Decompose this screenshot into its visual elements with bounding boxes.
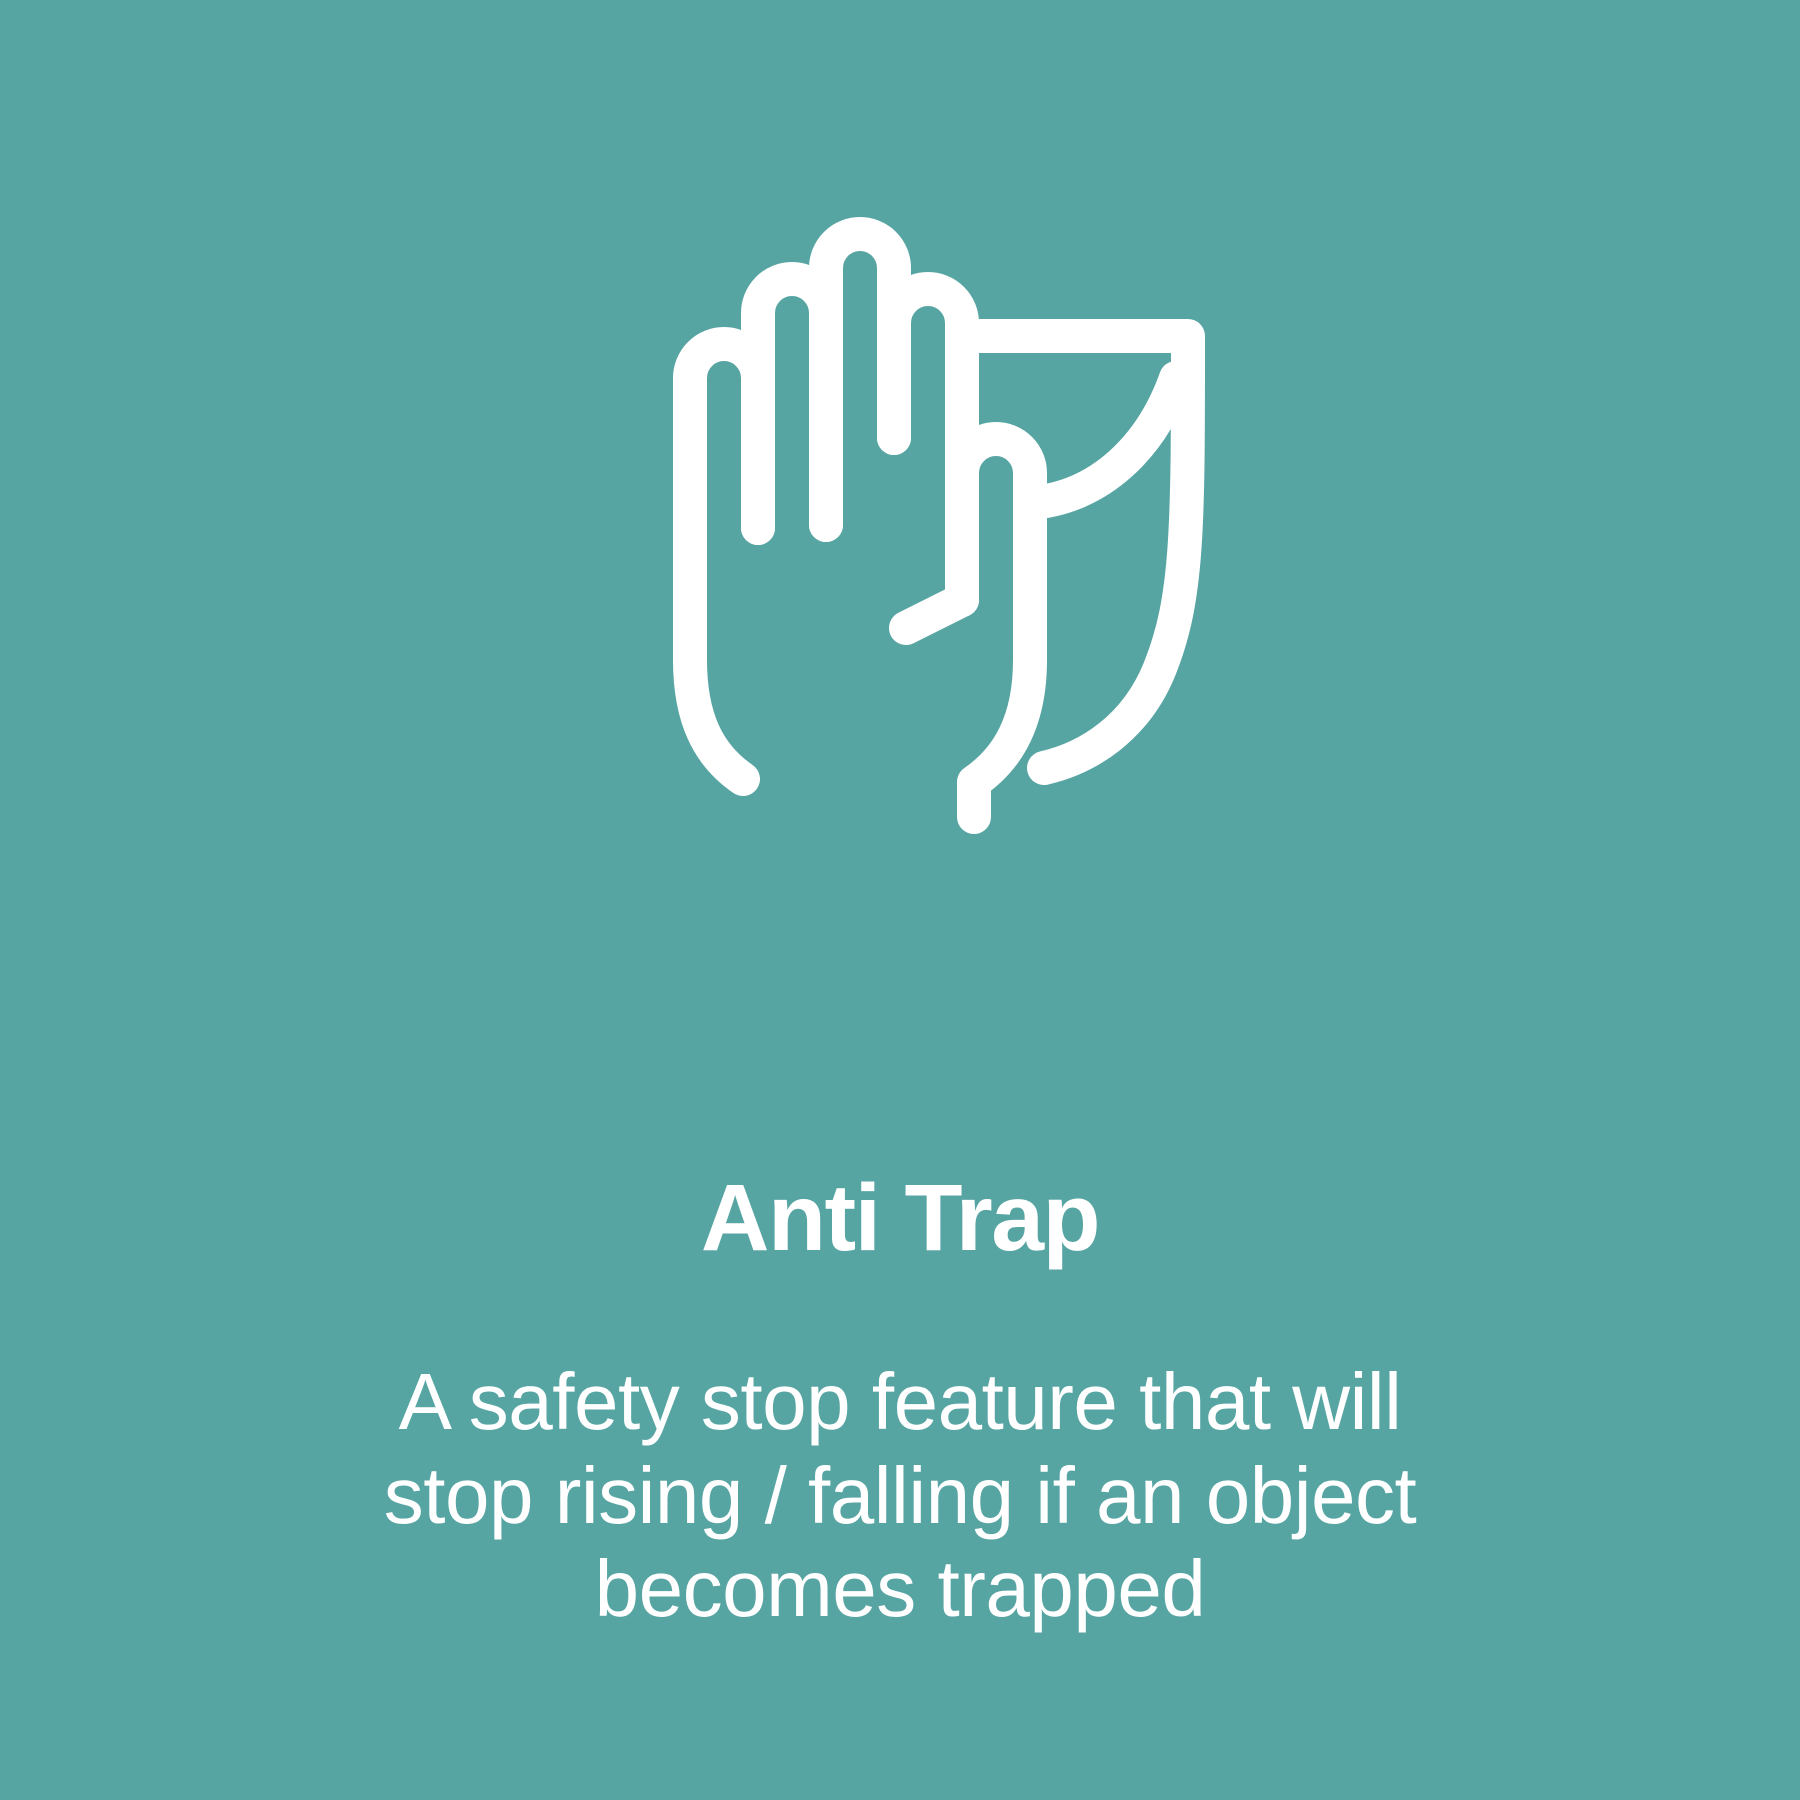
hand-thumb-crease <box>906 600 962 628</box>
feature-card: Anti Trap A safety stop feature that wil… <box>0 0 1800 1800</box>
feature-description: A safety stop feature that will stop ris… <box>0 1355 1800 1636</box>
description-line-1: A safety stop feature that will <box>0 1355 1800 1449</box>
blind-inner-curve <box>1030 378 1176 503</box>
hand-palm-left-edge <box>690 558 743 779</box>
hand-pinky-finger <box>690 344 758 558</box>
anti-trap-hand-blind-icon <box>600 228 1200 828</box>
anti-trap-icon-svg <box>600 228 1200 828</box>
hand-thumb <box>962 439 1030 817</box>
curved-blind-panel <box>971 336 1188 768</box>
description-line-3: becomes trapped <box>0 1542 1800 1636</box>
page-title: Anti Trap <box>0 1168 1800 1269</box>
description-line-2: stop rising / falling if an object <box>0 1449 1800 1543</box>
